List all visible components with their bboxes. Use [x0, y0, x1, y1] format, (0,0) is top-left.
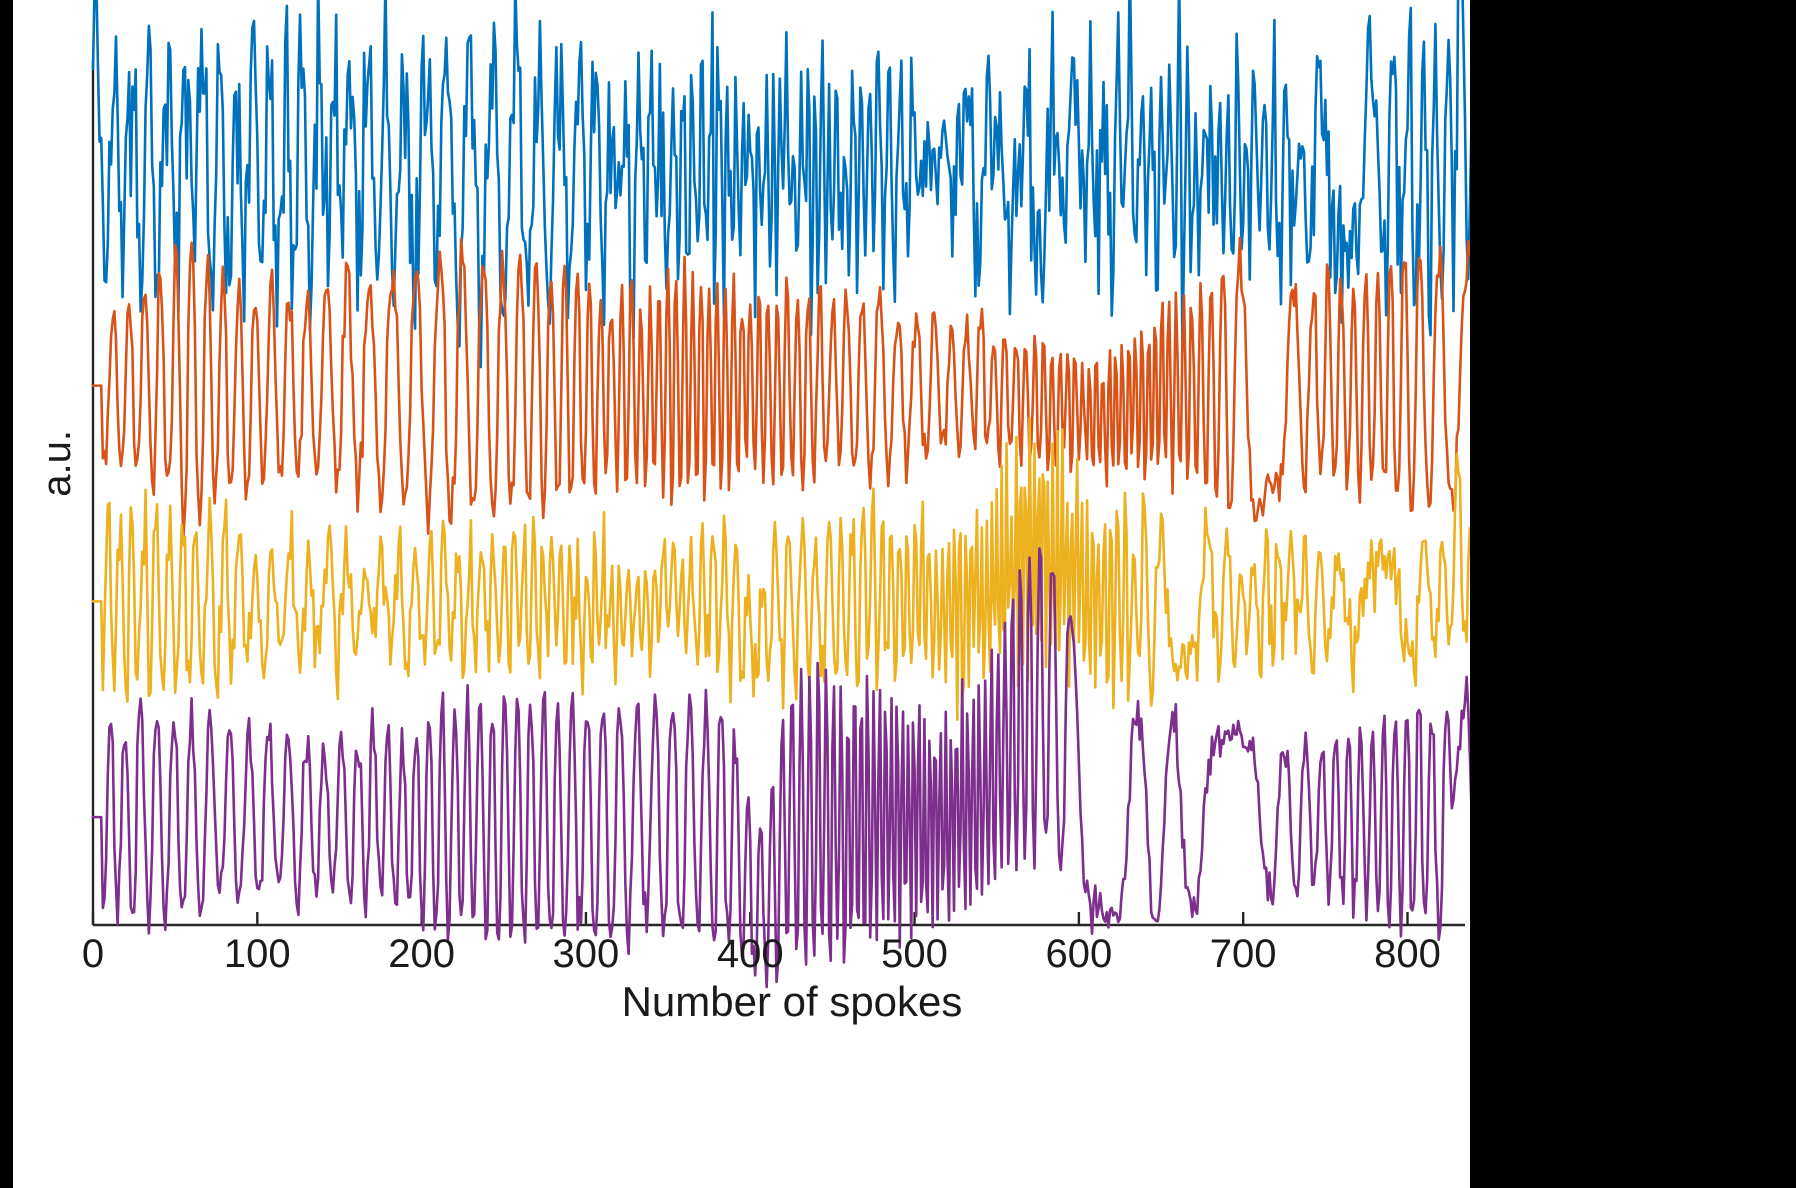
x-tick-label: 800 [1374, 932, 1441, 977]
x-tick-label: 300 [553, 932, 620, 977]
series-line-trace-1 [93, 0, 1470, 367]
x-tick-label: 200 [388, 932, 455, 977]
left-black-band-middle [0, 596, 13, 704]
right-black-band [1470, 0, 1796, 1188]
left-black-band-top [0, 0, 13, 568]
x-tick-label: 100 [224, 932, 291, 977]
x-tick-label: 700 [1210, 932, 1277, 977]
chart-canvas: a.u. 0100200300400500600700800 Number of… [13, 0, 1470, 1188]
x-axis-label: Number of spokes [106, 978, 1478, 1026]
x-tick-label: 600 [1045, 932, 1112, 977]
left-black-band-bottom [0, 722, 13, 1188]
series-line-trace-2 [93, 238, 1470, 537]
x-tick-label: 500 [881, 932, 948, 977]
figure-root: a.u. 0100200300400500600700800 Number of… [0, 0, 1796, 1188]
series-lines [93, 0, 1470, 987]
x-tick-label: 400 [717, 932, 784, 977]
x-tick-label: 0 [82, 932, 104, 977]
